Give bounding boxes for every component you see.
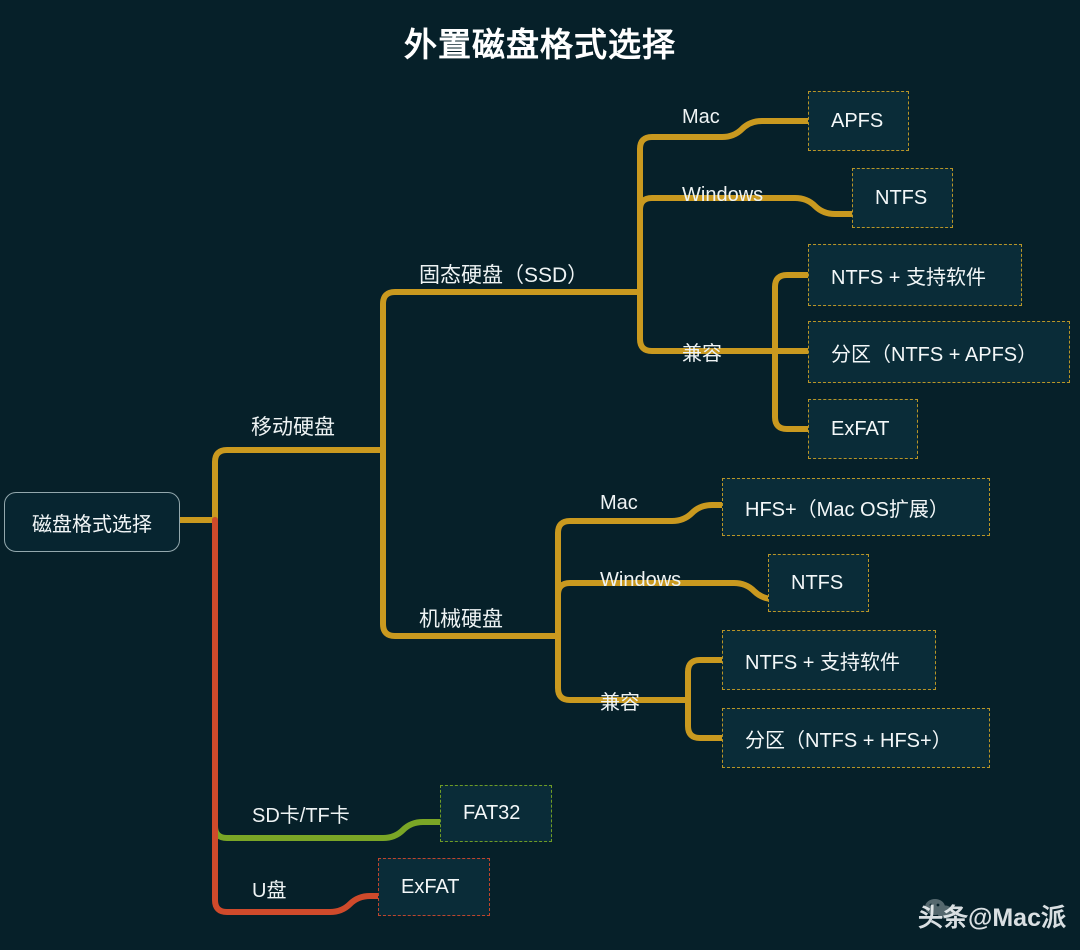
- leaf-apfs[interactable]: APFS: [808, 91, 909, 151]
- leaf-label: NTFS: [791, 572, 843, 595]
- leaf-fat32[interactable]: FAT32: [440, 785, 552, 842]
- leaf-exfat-usb[interactable]: ExFAT: [378, 858, 490, 916]
- branch-label-usb-drive: U盘: [252, 874, 286, 903]
- leaf-label: NTFS: [875, 187, 927, 210]
- branch-label-ssd: 固态硬盘（SSD）: [419, 259, 588, 289]
- leaf-partition-ntfs-apfs[interactable]: 分区（NTFS + APFS）: [808, 321, 1070, 383]
- watermark: 头条@Mac派: [918, 898, 1066, 934]
- root-node-label: 磁盘格式选择: [32, 508, 152, 537]
- leaf-ntfs-plus-software-ssd[interactable]: NTFS + 支持软件: [808, 244, 1022, 306]
- leaf-label: 分区（NTFS + APFS）: [831, 338, 1037, 367]
- leaf-label: HFS+（Mac OS扩展）: [745, 493, 949, 522]
- leaf-label: FAT32: [463, 802, 520, 825]
- leaf-partition-ntfs-hfs[interactable]: 分区（NTFS + HFS+）: [722, 708, 990, 768]
- leaf-label: NTFS + 支持软件: [831, 261, 986, 290]
- leaf-hfs-plus[interactable]: HFS+（Mac OS扩展）: [722, 478, 990, 536]
- branch-label-hdd-mac: Mac: [600, 492, 638, 515]
- branch-label-ssd-mac: Mac: [682, 106, 720, 129]
- branch-label-ssd-windows: Windows: [682, 184, 763, 207]
- mindmap-canvas: 外置磁盘格式选择: [0, 0, 1080, 950]
- branch-label-sd-card: SD卡/TF卡: [252, 799, 350, 828]
- branch-label-hdd: 机械硬盘: [419, 603, 503, 633]
- leaf-label: ExFAT: [831, 418, 890, 441]
- leaf-ntfs-plus-software-hdd[interactable]: NTFS + 支持软件: [722, 630, 936, 690]
- watermark-text: 头条@Mac派: [918, 898, 1066, 934]
- leaf-label: APFS: [831, 110, 883, 133]
- root-node[interactable]: 磁盘格式选择: [4, 492, 180, 552]
- leaf-label: NTFS + 支持软件: [745, 646, 900, 675]
- leaf-label: ExFAT: [401, 876, 460, 899]
- leaf-ntfs-hdd-windows[interactable]: NTFS: [768, 554, 869, 612]
- branch-label-ssd-compat: 兼容: [682, 337, 722, 366]
- leaf-exfat-ssd[interactable]: ExFAT: [808, 399, 918, 459]
- branch-label-hdd-windows: Windows: [600, 569, 681, 592]
- branch-label-hdd-compat: 兼容: [600, 686, 640, 715]
- branch-label-portable-drive: 移动硬盘: [251, 411, 335, 441]
- leaf-ntfs-ssd-windows[interactable]: NTFS: [852, 168, 953, 228]
- leaf-label: 分区（NTFS + HFS+）: [745, 724, 952, 753]
